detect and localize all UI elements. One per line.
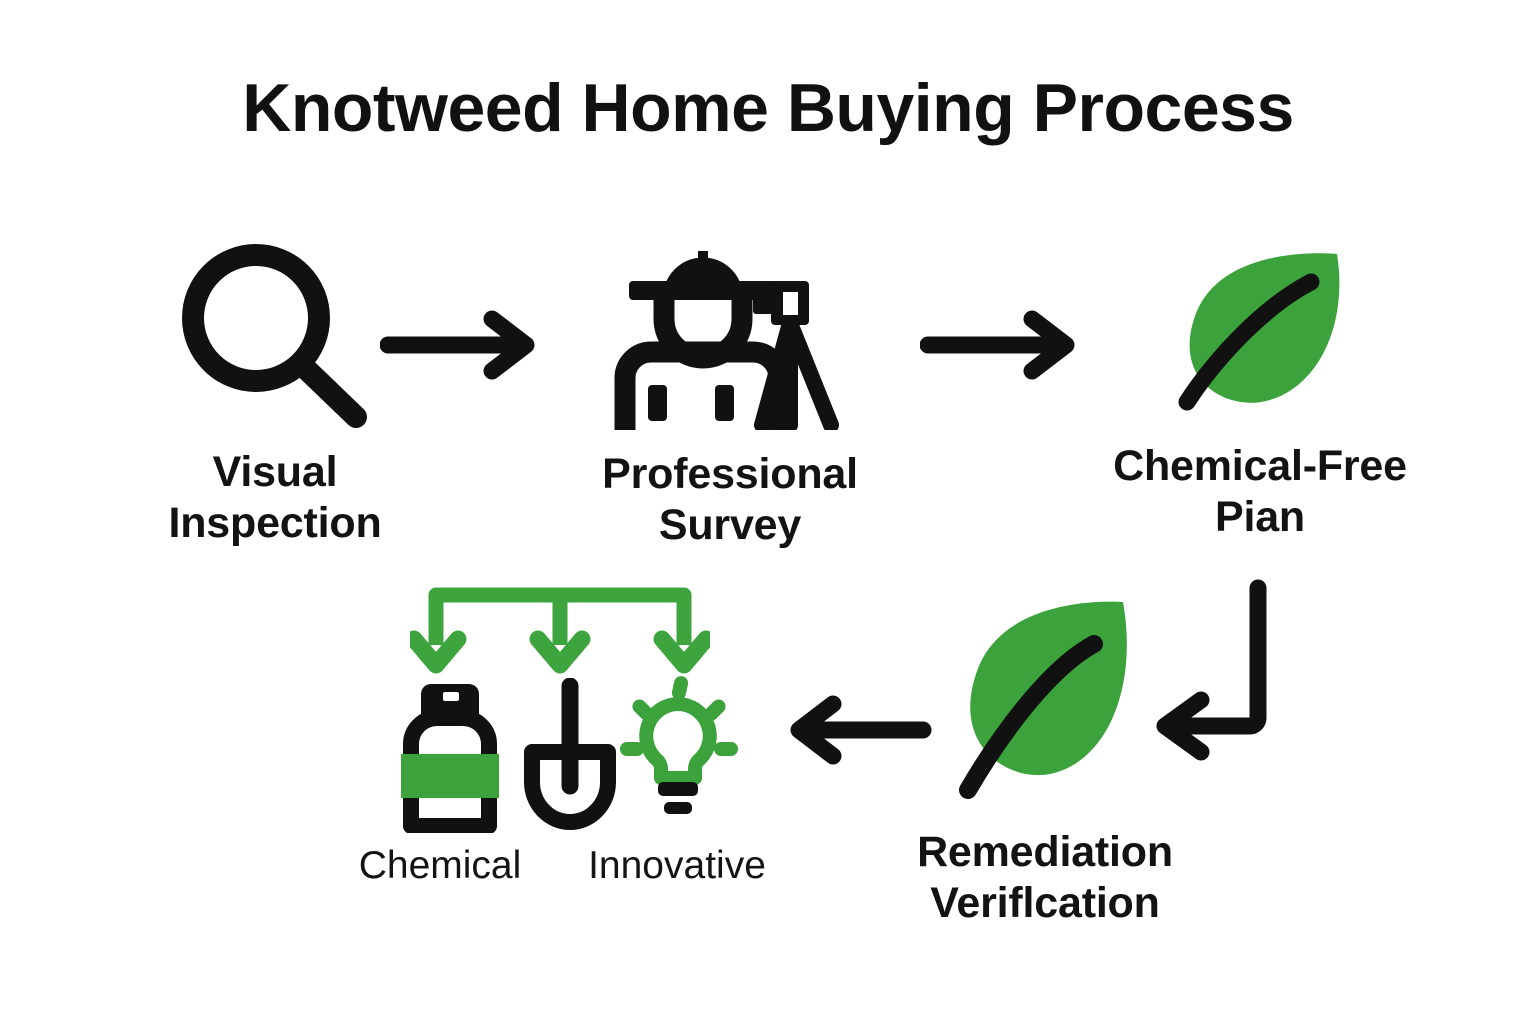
arrow-right-1 <box>380 305 550 390</box>
treatment-label-innovative: Innovative <box>562 845 792 888</box>
step-label-professional-survey: Professional Survey <box>602 449 858 550</box>
leaf-icon <box>950 588 1140 813</box>
treatment-option-chemical[interactable] <box>395 678 505 838</box>
step-label-chemical-free-plan: Chemical-Free Pian <box>1113 441 1407 542</box>
step-visual-inspection[interactable]: Visual Inspection <box>110 238 440 548</box>
leaf-icon <box>1165 242 1355 427</box>
step-label-visual-inspection: Visual Inspection <box>168 447 381 548</box>
treatment-option-shovel[interactable] <box>520 678 620 838</box>
surveyor-theodolite-icon <box>607 245 853 435</box>
page-title: Knotweed Home Buying Process <box>0 74 1536 142</box>
treatment-option-innovative[interactable] <box>618 670 738 835</box>
step-label-remediation-verification: Remediation Veriflcation <box>917 827 1173 928</box>
diagram-canvas: Knotweed Home Buying Process Visual Insp… <box>0 0 1536 1024</box>
treatment-label-chemical: Chemical <box>330 845 550 888</box>
step-professional-survey[interactable]: Professional Survey <box>565 245 895 550</box>
step-chemical-free-plan[interactable]: Chemical-Free Pian <box>1065 242 1455 542</box>
magnifying-glass-icon <box>170 238 380 433</box>
arrow-left-1 <box>775 690 945 775</box>
